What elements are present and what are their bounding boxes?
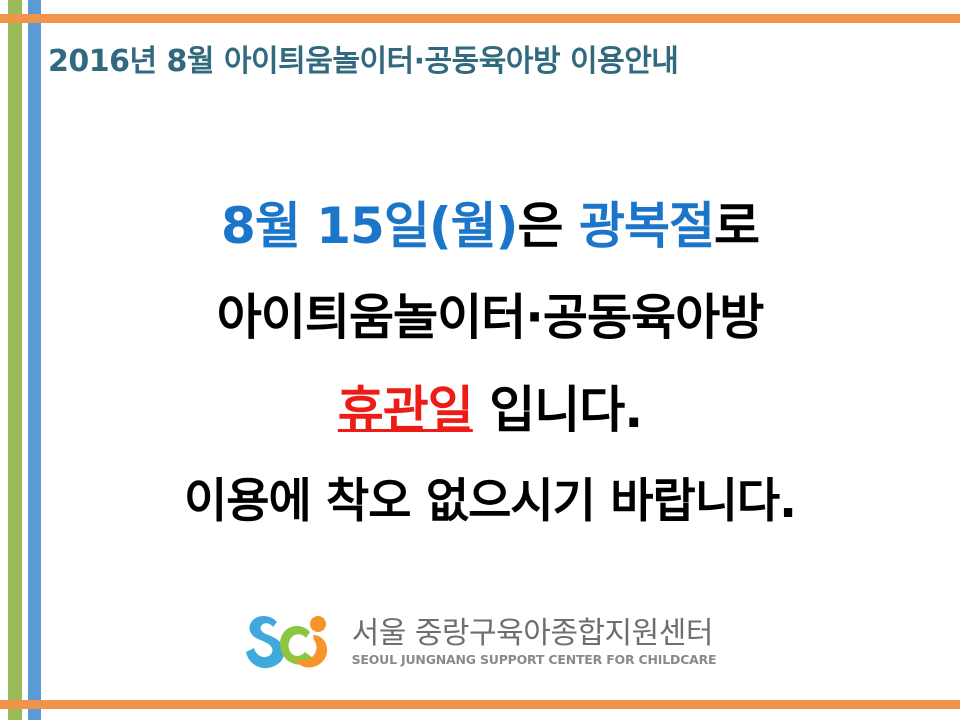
notice-line-1-date: 8월 15일(월) (221, 197, 517, 255)
logo-english-name: SEOUL JUNGNANG SUPPORT CENTER FOR CHILDC… (352, 654, 717, 667)
organization-logo: 서울 중랑구육아종합지원센터 SEOUL JUNGNANG SUPPORT CE… (0, 612, 960, 674)
logo-korean-name: 서울 중랑구육아종합지원센터 (352, 619, 713, 649)
announcement-poster: 2016년 8월 아이틔움놀이터·공동육아방 이용안내 8월 15일(월)은 광… (0, 0, 960, 720)
decor-horizontal-bar-bottom (0, 700, 960, 709)
notice-line-1-particle-2: 로 (714, 197, 759, 255)
notice-line-3-suffix: 입니다. (473, 381, 642, 439)
notice-line-3-closed-day: 휴관일 (338, 381, 473, 439)
page-title: 2016년 8월 아이틔움놀이터·공동육아방 이용안내 (48, 36, 928, 80)
notice-body: 8월 15일(월)은 광복절로 아이틔움놀이터·공동육아방 휴관일 입니다. 이… (60, 180, 920, 548)
notice-line-3: 휴관일 입니다. (60, 364, 920, 456)
decor-horizontal-bar-top (0, 14, 960, 23)
notice-line-1-holiday: 광복절 (579, 197, 714, 255)
logo-text-block: 서울 중랑구육아종합지원센터 SEOUL JUNGNANG SUPPORT CE… (352, 619, 717, 667)
notice-line-4-request: 이용에 착오 없으시기 바랍니다. (60, 456, 920, 548)
notice-line-1-particle-1: 은 (518, 197, 579, 255)
notice-line-1: 8월 15일(월)은 광복절로 (60, 180, 920, 272)
notice-line-2-facility: 아이틔움놀이터·공동육아방 (60, 272, 920, 364)
sc-monogram-icon (244, 612, 340, 674)
